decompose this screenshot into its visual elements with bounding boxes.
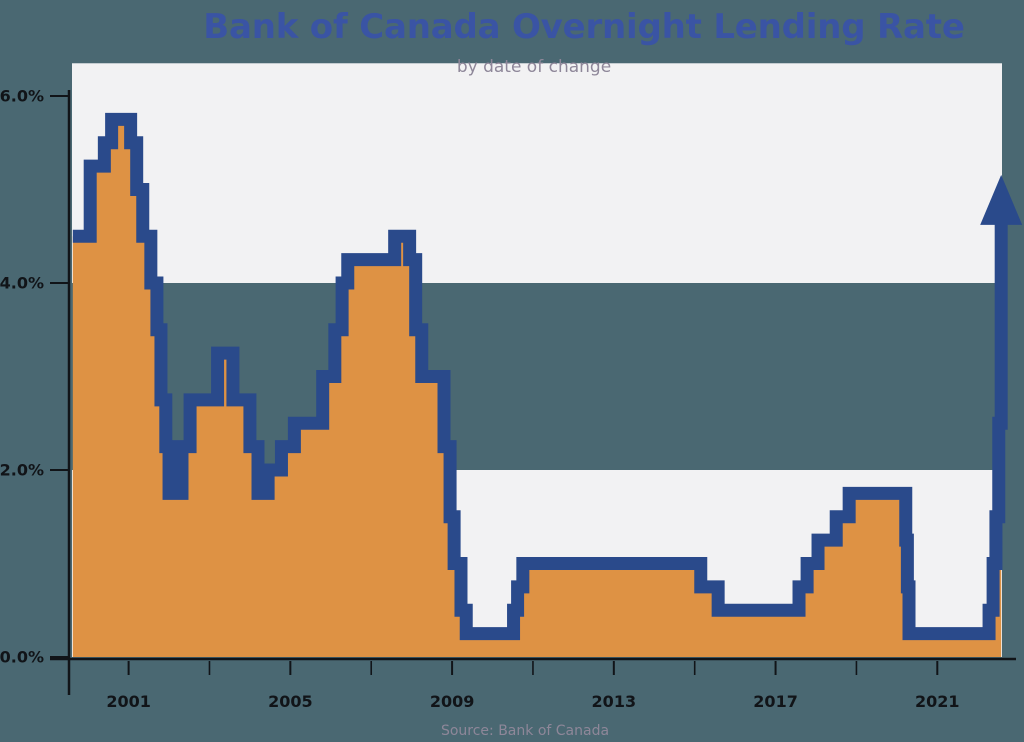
y-tick-label: 2.0% xyxy=(0,461,44,480)
x-tick-label: 2021 xyxy=(915,692,960,711)
y-tick-label: 4.0% xyxy=(0,274,44,293)
bank-of-canada-rate-chart: 0.0%2.0%4.0%6.0% 20012005200920132017202… xyxy=(0,0,1024,742)
x-tick-label: 2001 xyxy=(106,692,151,711)
chart-source-note: Source: Bank of Canada xyxy=(441,723,609,739)
x-tick-label: 2017 xyxy=(753,692,798,711)
plot-band-2 xyxy=(72,63,1002,283)
x-tick-label: 2013 xyxy=(592,692,637,711)
x-tick-label: 2005 xyxy=(268,692,313,711)
chart-subtitle: by date of change xyxy=(457,57,611,77)
y-tick-label: 0.0% xyxy=(0,648,44,667)
x-tick-label: 2009 xyxy=(430,692,475,711)
page-title: Bank of Canada Overnight Lending Rate xyxy=(203,7,964,47)
y-tick-label: 6.0% xyxy=(0,87,44,106)
